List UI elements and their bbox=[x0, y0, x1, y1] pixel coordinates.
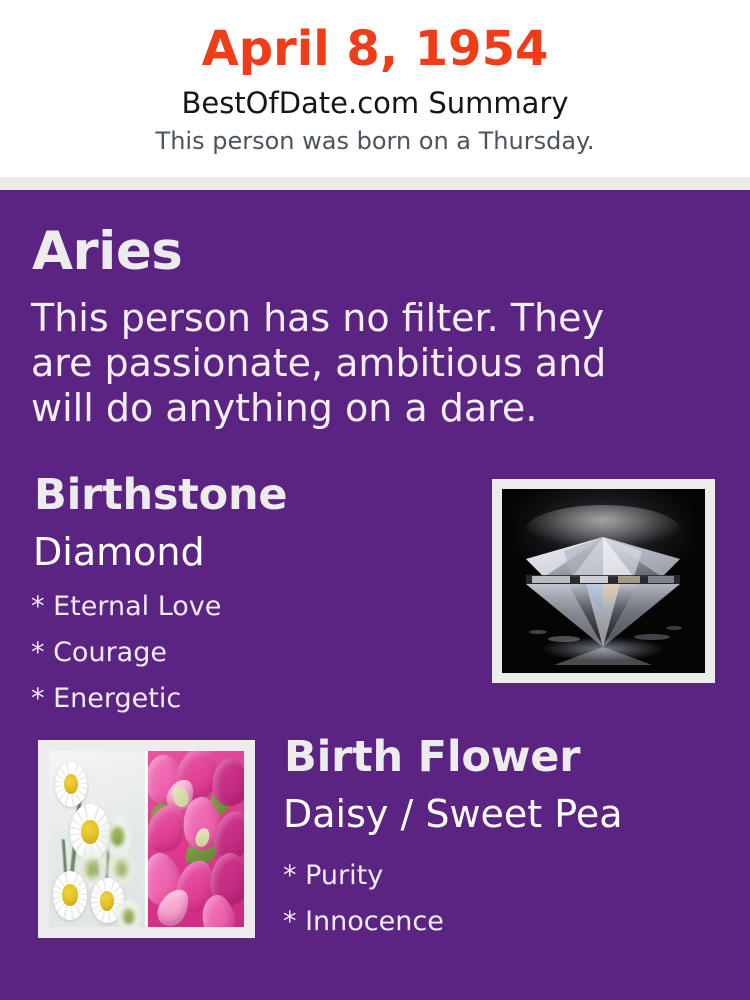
header-divider bbox=[0, 177, 750, 190]
site-summary-label: BestOfDate.com Summary bbox=[0, 88, 750, 120]
page-title-date: April 8, 1954 bbox=[0, 24, 750, 76]
birth-flower-photo bbox=[49, 751, 244, 927]
list-item: * Purity bbox=[283, 853, 713, 899]
birth-flower-name: Daisy / Sweet Pea bbox=[283, 795, 623, 835]
birthstone-name: Diamond bbox=[33, 533, 205, 573]
header-section: April 8, 1954 BestOfDate.com Summary Thi… bbox=[0, 0, 750, 177]
birth-flower-photo-frame bbox=[38, 740, 255, 938]
day-of-week-note: This person was born on a Thursday. bbox=[0, 128, 750, 154]
list-item: * Energetic bbox=[31, 676, 461, 722]
sweet-pea-photo-half bbox=[148, 751, 244, 927]
birthstone-photo-frame bbox=[492, 479, 715, 683]
zodiac-description: This person has no filter. They are pass… bbox=[31, 296, 661, 431]
daisy-photo-half bbox=[49, 751, 145, 927]
list-item: * Innocence bbox=[283, 899, 713, 945]
birthday-summary-card: April 8, 1954 BestOfDate.com Summary Thi… bbox=[0, 0, 750, 1000]
birth-flower-trait-list: * Purity * Innocence bbox=[283, 853, 713, 945]
zodiac-sign-heading: Aries bbox=[32, 224, 182, 280]
birth-flower-heading: Birth Flower bbox=[284, 735, 580, 780]
birthstone-photo bbox=[502, 489, 705, 673]
birthstone-heading: Birthstone bbox=[34, 473, 287, 518]
list-item: * Courage bbox=[31, 630, 461, 676]
list-item: * Eternal Love bbox=[31, 584, 461, 630]
flower-split-image bbox=[49, 751, 244, 927]
diamond-icon bbox=[502, 489, 705, 673]
birthstone-trait-list: * Eternal Love * Courage * Energetic bbox=[31, 584, 461, 722]
